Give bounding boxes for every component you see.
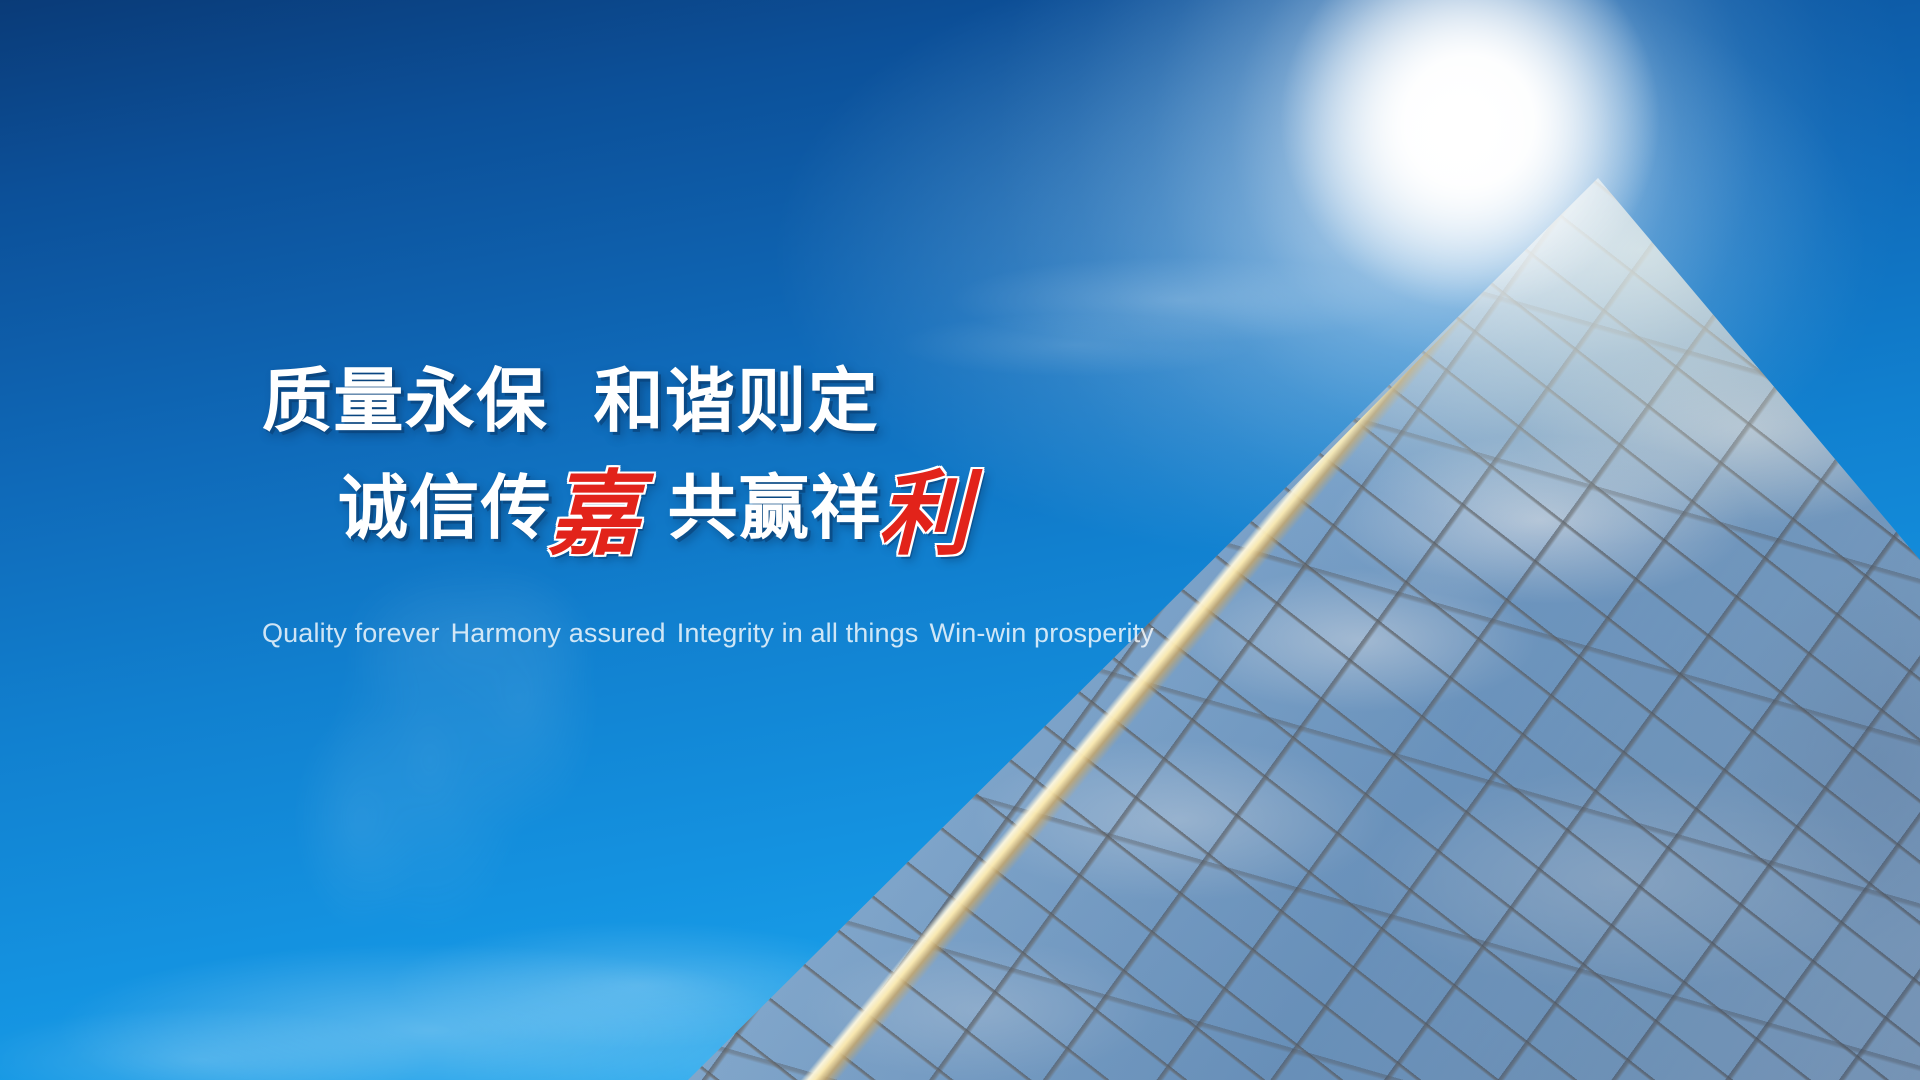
hero-banner: 质量永保和谐则定 诚信传嘉共赢祥利 Quality foreverHarmony…: [0, 0, 1920, 1080]
subtitle-part-3: Integrity in all things: [677, 618, 919, 648]
headline-line1-right: 和谐则定: [594, 362, 880, 440]
subtitle-part-1: Quality forever: [262, 618, 440, 648]
subtitle-line: Quality foreverHarmony assuredIntegrity …: [262, 618, 1154, 649]
headline-accent-char-jia: 嘉: [548, 468, 641, 560]
headline-line2-seg1: 诚信传: [338, 473, 552, 543]
headline-line-2: 诚信传嘉共赢祥利: [338, 462, 967, 554]
headline-line1-left: 质量永保: [262, 362, 548, 440]
headline-accent-char-li: 利: [878, 468, 971, 560]
headline-line-1: 质量永保和谐则定: [262, 366, 879, 436]
subtitle-part-2: Harmony assured: [451, 618, 666, 648]
subtitle-part-4: Win-win prosperity: [929, 618, 1153, 648]
headline-line2-seg2: 共赢祥: [668, 473, 882, 543]
